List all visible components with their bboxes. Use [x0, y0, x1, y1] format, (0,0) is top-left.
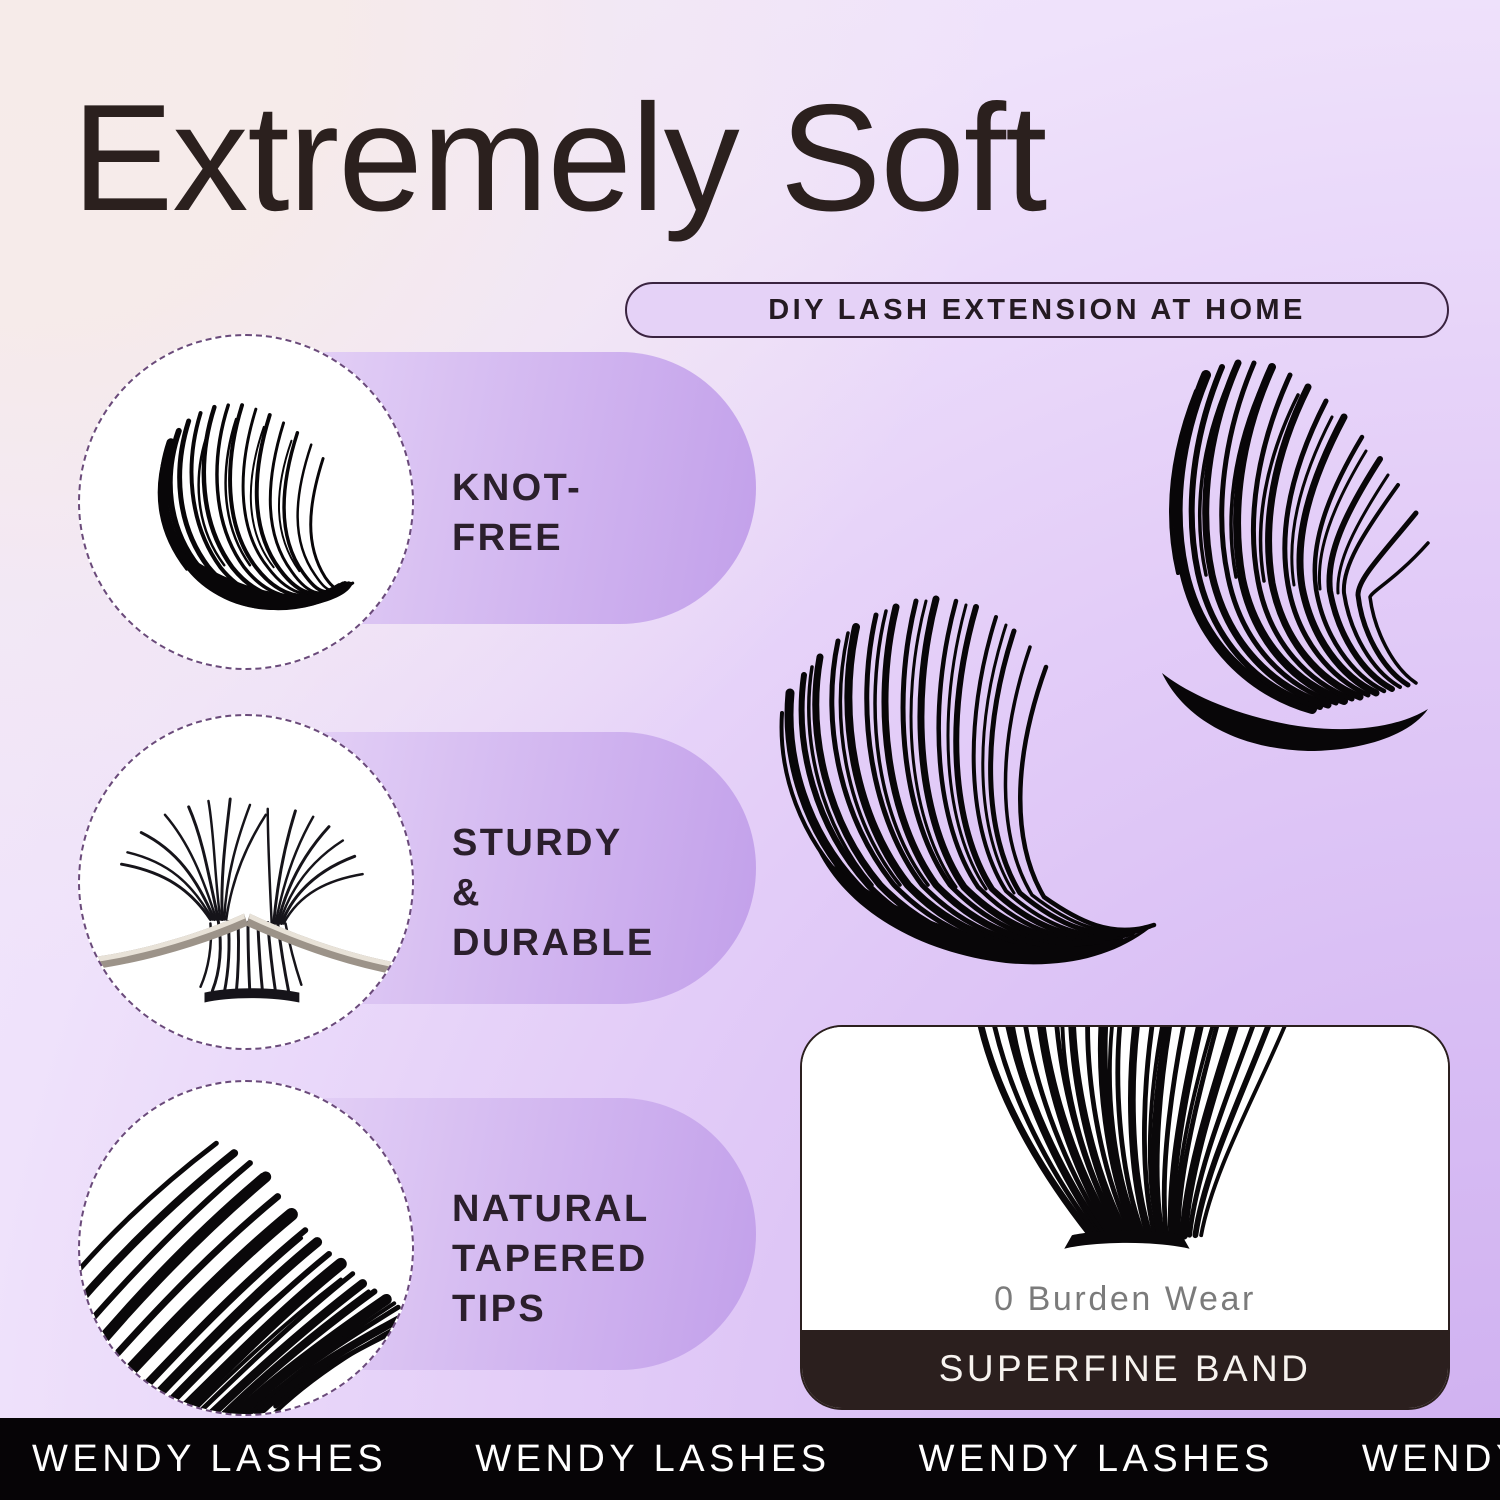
watermark-text: WENDY LASHES: [0, 1438, 443, 1481]
product-infographic: Extremely Soft DIY LASH EXTENSION AT HOM…: [0, 0, 1500, 1500]
card-band-label-container: SUPERFINE BAND: [802, 1330, 1448, 1408]
lash-cluster-curved-icon: [80, 336, 412, 668]
footer-watermark-strip: WENDY LASHES WENDY LASHES WENDY LASHES W…: [0, 1418, 1500, 1500]
lash-band-closeup-icon: [802, 1027, 1448, 1268]
subtitle-badge: DIY LASH EXTENSION AT HOME: [625, 282, 1449, 338]
feature-image-natural-tapered-tips: [78, 1080, 414, 1416]
feature-image-knot-free: [78, 334, 414, 670]
watermark-text: WENDY LASHES: [443, 1438, 886, 1481]
card-caption: 0 Burden Wear: [802, 1268, 1448, 1330]
lash-tapered-fibers-macro-icon: [80, 1082, 412, 1414]
feature-image-sturdy-durable: [78, 714, 414, 1050]
page-title: Extremely Soft: [72, 82, 1492, 234]
two-lash-clusters-icon: [760, 345, 1480, 985]
subtitle-label: DIY LASH EXTENSION AT HOME: [768, 294, 1305, 327]
watermark-text: WENDY LAS: [1330, 1438, 1500, 1481]
product-card-superfine-band: 0 Burden Wear SUPERFINE BAND: [800, 1025, 1450, 1410]
watermark-text: WENDY LASHES: [887, 1438, 1330, 1481]
feature-label: STURDY & DURABLE: [452, 818, 655, 968]
feature-label: KNOT-FREE: [452, 463, 582, 563]
lash-bent-by-tweezers-icon: [80, 716, 412, 1048]
hero-lash-image: [760, 345, 1480, 985]
card-image: [802, 1027, 1448, 1268]
feature-label: NATURAL TAPERED TIPS: [452, 1184, 650, 1334]
card-band-label: SUPERFINE BAND: [939, 1348, 1311, 1390]
